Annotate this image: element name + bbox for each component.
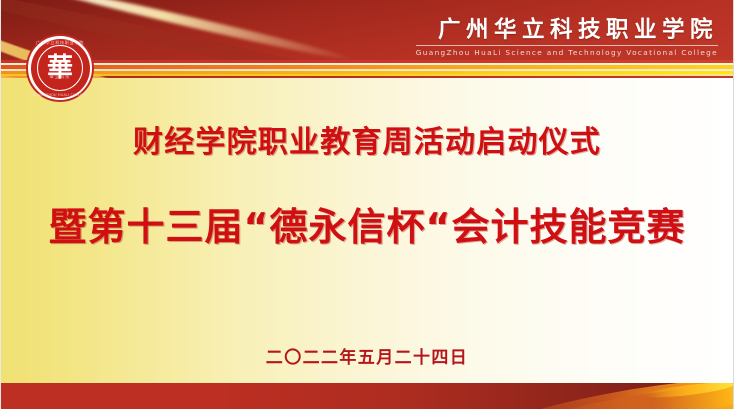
university-name-divider [416,45,718,46]
university-name-block: 广州华立科技职业学院 GuangZhou HuaLi Science and T… [416,17,718,58]
university-name-english: GuangZhou HuaLi Science and Technology V… [416,48,718,58]
presentation-slide: 广州华立科技职业学院 華 華立科技 GUANGZHOU HUALI COLLEG… [0,0,734,409]
university-name-chinese: 广州华立科技职业学院 [416,17,718,43]
main-title-line-2: 暨第十三届“德永信杯“会计技能竞赛 [0,200,734,254]
main-title-line-1: 财经学院职业教育周活动启动仪式 [0,121,734,165]
seal-center-character: 華 [37,45,83,91]
seal-sub-text: 華立科技 [26,74,94,80]
slide-footer-band [0,383,734,409]
seal-arc-text-en: GUANGZHOU HUALI COLLEGE [26,93,94,97]
university-logo: 广州华立科技职业学院 華 華立科技 GUANGZHOU HUALI COLLEG… [26,34,94,102]
event-date: 二〇二二年五月二十四日 [0,346,734,370]
ribbon-stripe-yellow [0,74,734,76]
